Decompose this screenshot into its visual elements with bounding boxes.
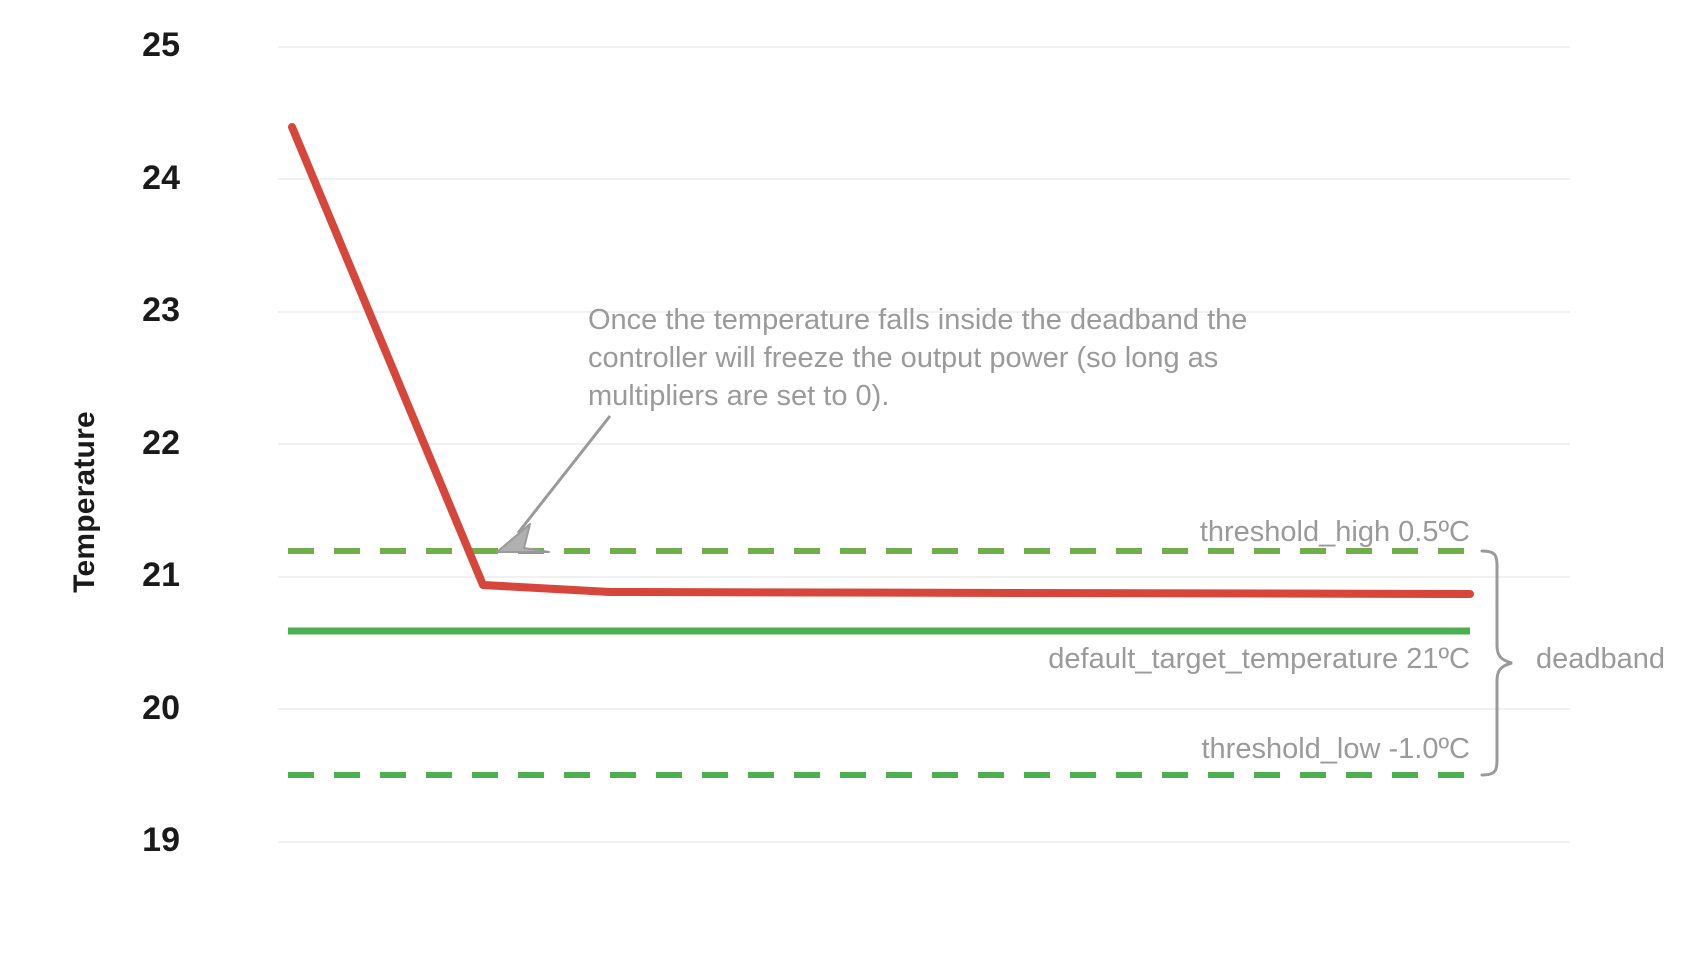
annotation-line-1: Once the temperature falls inside the de… [588,300,1247,340]
threshold-low-label: threshold_low -1.0ºC [700,733,1470,766]
plot-overlay [0,0,1700,960]
deadband-label: deadband [1536,643,1665,676]
annotation-line-3: multipliers are set to 0). [588,376,889,416]
target-temperature-label: default_target_temperature 21ºC [600,643,1470,676]
chart-canvas: Temperature 25 24 23 22 21 20 19 Once th… [0,0,1700,960]
deadband-brace [1482,551,1512,775]
threshold-high-label: threshold_high 0.5ºC [700,516,1470,549]
annotation-line-2: controller will freeze the output power … [588,338,1218,378]
annotation-arrow [497,416,610,552]
